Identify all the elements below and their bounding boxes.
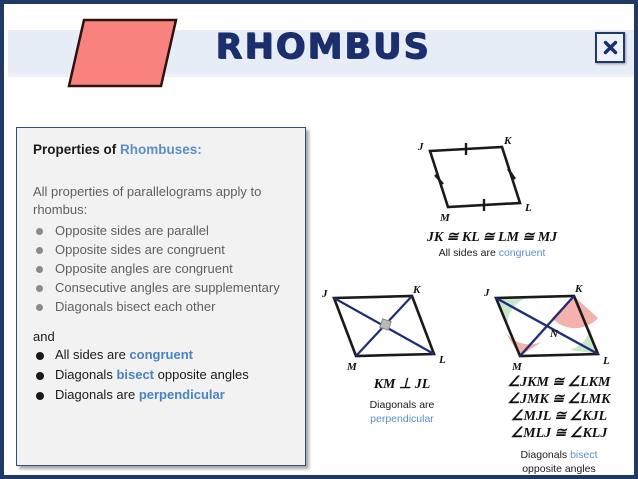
list-item-accent: congruent <box>129 347 193 362</box>
figure-caption-accent: perpendicular <box>370 413 434 425</box>
figure-caption: Diagonals are perpendicular <box>312 398 492 426</box>
vertex-label-L: L <box>602 355 610 367</box>
figure-caption: Diagonals bisect opposite angles <box>474 448 638 476</box>
figure-caption-accent: congruent <box>499 247 546 259</box>
close-icon <box>603 40 618 55</box>
figure-all-sides-congruent: J K M L JK ≅ KL ≅ LM ≅ MJ All sides are … <box>402 137 582 260</box>
properties-panel: Properties of Rhombuses: All properties … <box>16 127 306 466</box>
figure-diagonals-bisect-angles: J K M L N ∠JKM ≅ ∠LKM ∠JMK ≅ ∠LMK ∠MJL ≅… <box>474 282 638 476</box>
figure-formula-line-3: ∠MJL ≅ ∠KJL <box>474 408 638 425</box>
list-item: Opposite sides are congruent <box>33 240 291 259</box>
figure-formula-line-1: ∠JKM ≅ ∠LKM <box>474 374 638 391</box>
properties-title-prefix: Properties of <box>33 142 120 157</box>
properties-lead: All properties of parallelograms apply t… <box>33 183 291 219</box>
properties-list-rhombus: All sides are congruent Diagonals bisect… <box>33 345 291 405</box>
list-item: Opposite angles are congruent <box>33 259 291 278</box>
vertex-label-L: L <box>524 202 532 214</box>
properties-list-parallelogram: Opposite sides are parallel Opposite sid… <box>33 221 291 316</box>
page-title: RHOMBUS <box>4 27 638 67</box>
vertex-label-J: J <box>321 288 328 300</box>
figure-caption: All sides are congruent <box>402 246 582 260</box>
list-item: Consecutive angles are supplementary <box>33 278 291 297</box>
list-item-pre: All sides are <box>55 347 129 362</box>
figure-caption-pre: Diagonals are <box>370 399 435 411</box>
figure-caption-pre: Diagonals <box>520 449 570 461</box>
list-item-pre: Diagonals <box>55 367 116 382</box>
vertex-label-K: K <box>574 283 583 295</box>
properties-title: Properties of Rhombuses: <box>33 142 291 157</box>
list-item-pre: Diagonals are <box>55 387 139 402</box>
properties-title-accent: Rhombuses: <box>120 142 202 157</box>
vertex-label-J: J <box>483 287 490 299</box>
list-item: All sides are congruent <box>33 345 291 365</box>
close-button[interactable] <box>595 32 625 63</box>
figure-formula-line-4: ∠MLJ ≅ ∠KLJ <box>474 425 638 442</box>
figure-formula: KM ⊥ JL <box>312 376 492 393</box>
vertex-label-M: M <box>439 212 451 224</box>
figure-formula-line-2: ∠JMK ≅ ∠LMK <box>474 391 638 408</box>
and-connector: and <box>33 329 291 344</box>
list-item: Opposite sides are parallel <box>33 221 291 240</box>
list-item-accent: bisect <box>116 367 154 382</box>
vertex-label-K: K <box>412 284 421 296</box>
slide-root: RHOMBUS Properties of Rhombuses: All pro… <box>0 0 638 479</box>
vertex-label-L: L <box>438 354 446 366</box>
vertex-label-J: J <box>417 141 424 153</box>
vertex-label-M: M <box>511 361 523 373</box>
list-item-post: opposite angles <box>154 367 249 382</box>
figure-caption-post: opposite angles <box>522 463 596 475</box>
figure-caption-accent: bisect <box>570 449 597 461</box>
figure-formula: JK ≅ KL ≅ LM ≅ MJ <box>402 229 582 246</box>
list-item: Diagonals bisect opposite angles <box>33 365 291 385</box>
vertex-label-N: N <box>549 328 559 340</box>
list-item-accent: perpendicular <box>139 387 225 402</box>
vertex-label-M: M <box>346 361 358 373</box>
figure-caption-pre: All sides are <box>439 247 499 259</box>
list-item: Diagonals bisect each other <box>33 297 291 316</box>
figure-diagonals-perpendicular: J K M L KM ⊥ JL Diagonals are perpendicu… <box>312 284 492 426</box>
vertex-label-K: K <box>503 137 512 147</box>
list-item: Diagonals are perpendicular <box>33 385 291 405</box>
